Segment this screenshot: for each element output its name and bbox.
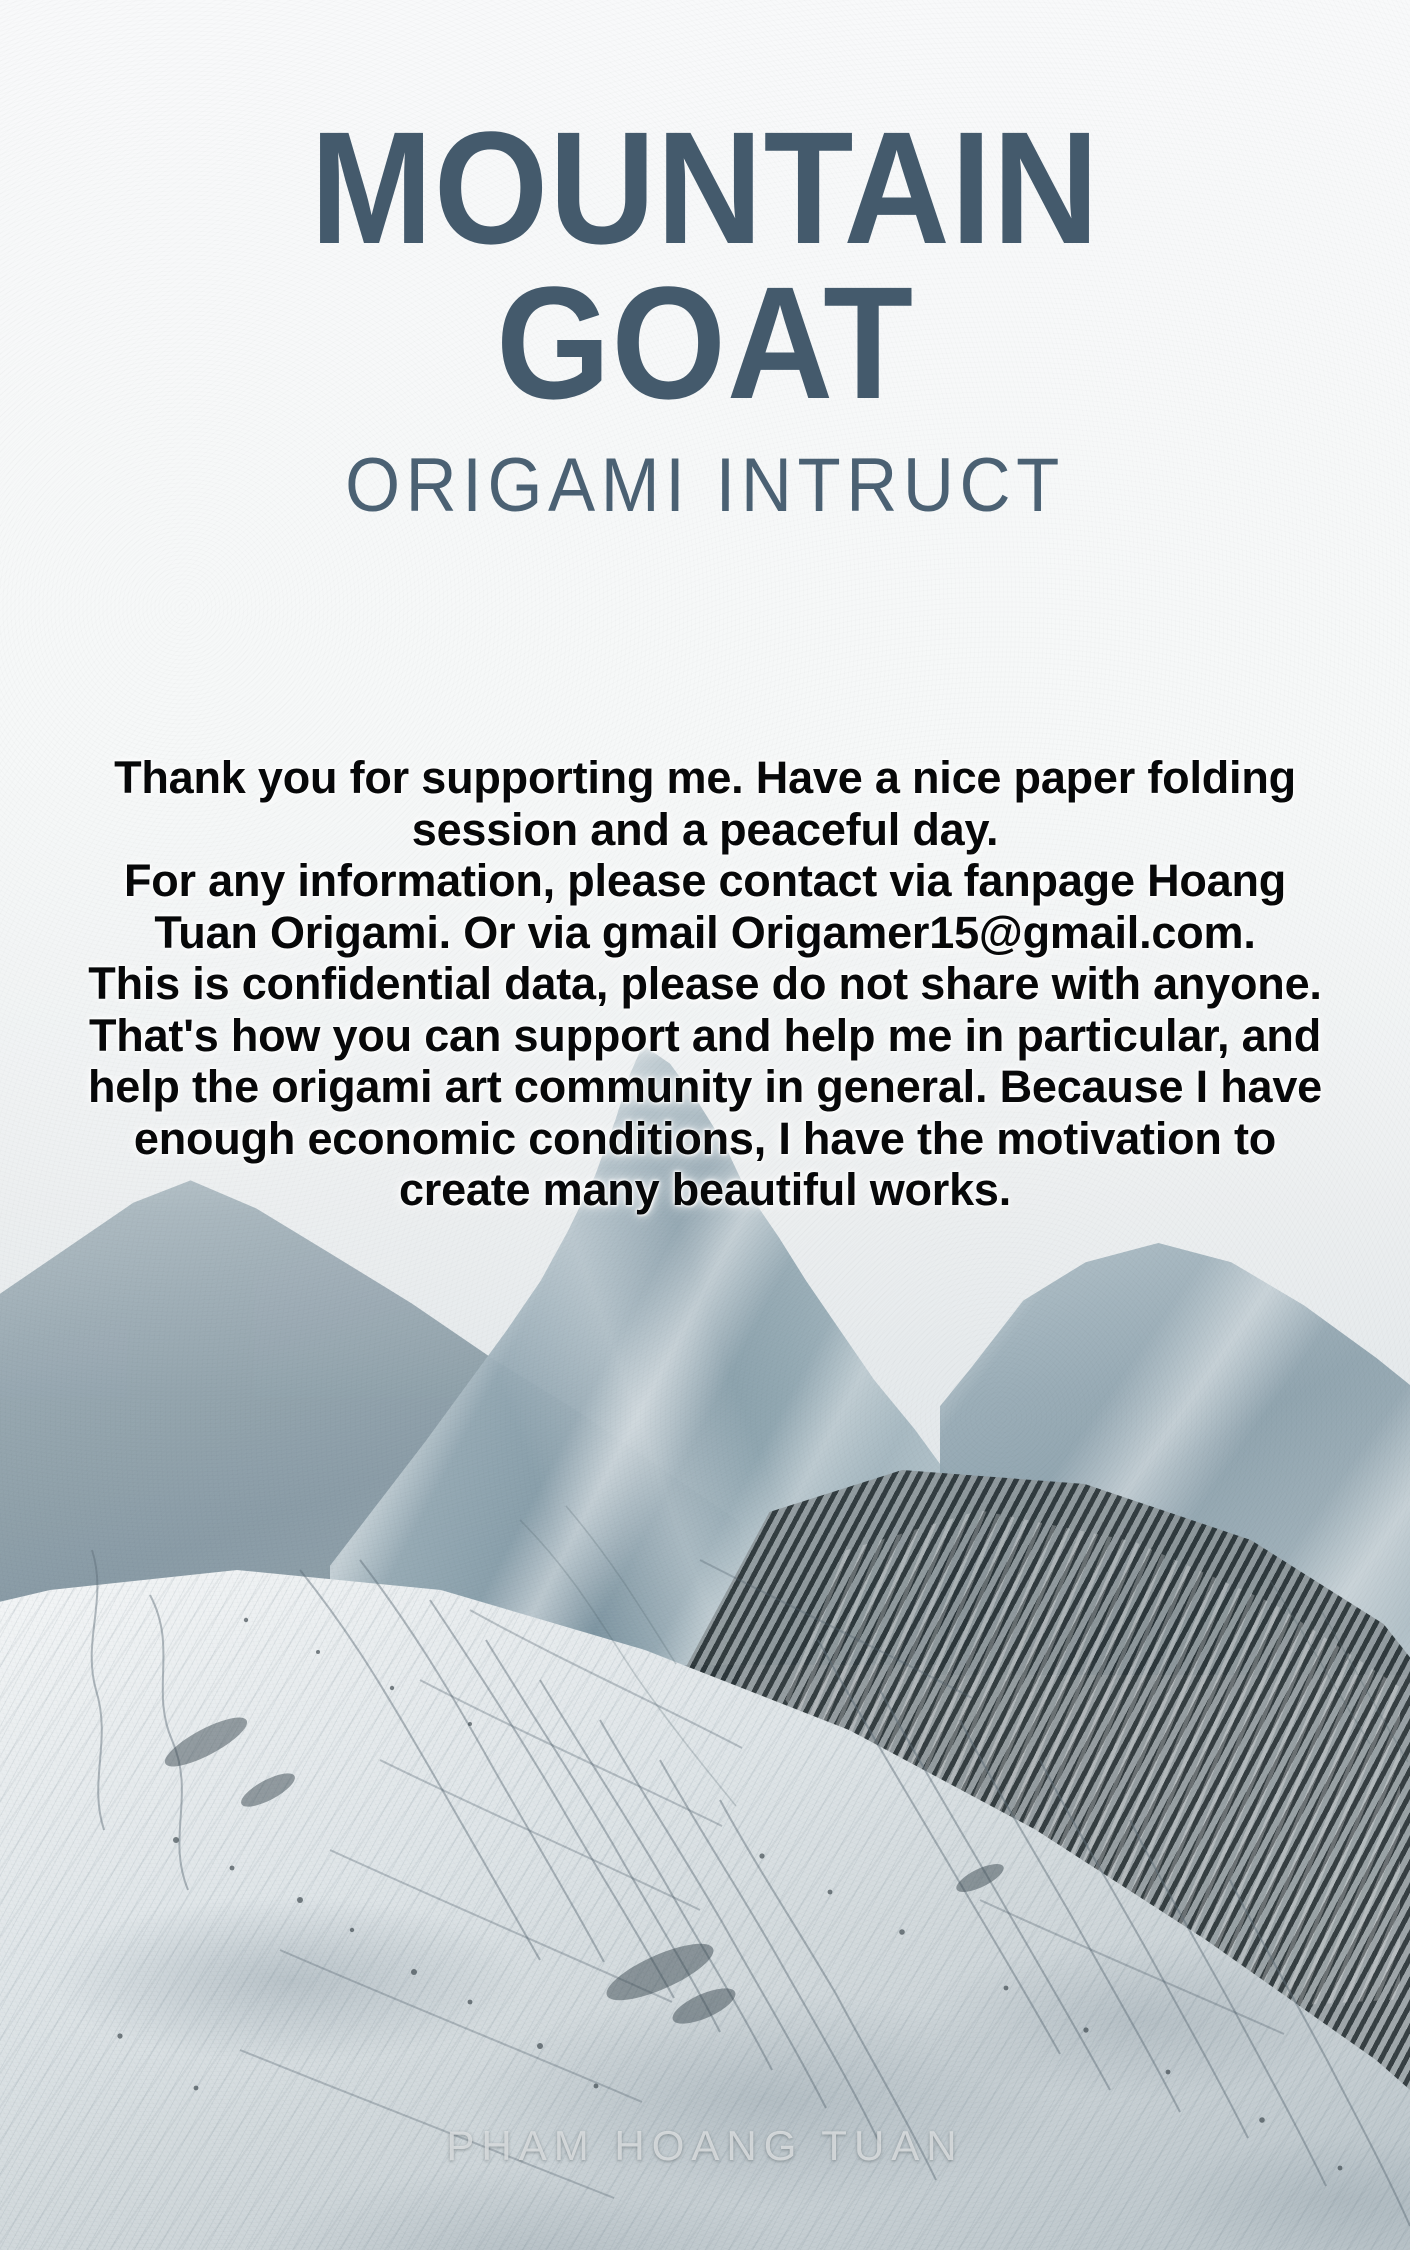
poster-subtitle: ORIGAMI INTRUCT [49, 448, 1360, 524]
body-paragraph-confidentiality: This is confidential data, please do not… [80, 958, 1330, 1216]
title-block: MOUNTAIN GOAT ORIGAMI INTRUCT [0, 110, 1410, 524]
body-paragraph-greeting: Thank you for supporting me. Have a nice… [80, 752, 1330, 958]
author-signature: PHAM HOANG TUAN [446, 2122, 963, 2169]
poster-content: MOUNTAIN GOAT ORIGAMI INTRUCT Thank you … [0, 0, 1410, 2250]
poster-title-line-1: MOUNTAIN [56, 110, 1353, 265]
poster-title-line-2: GOAT [56, 265, 1353, 420]
body-text-block: Thank you for supporting me. Have a nice… [0, 752, 1410, 1216]
poster-canvas: MOUNTAIN GOAT ORIGAMI INTRUCT Thank you … [0, 0, 1410, 2250]
footer-block: PHAM HOANG TUAN [0, 2122, 1410, 2170]
